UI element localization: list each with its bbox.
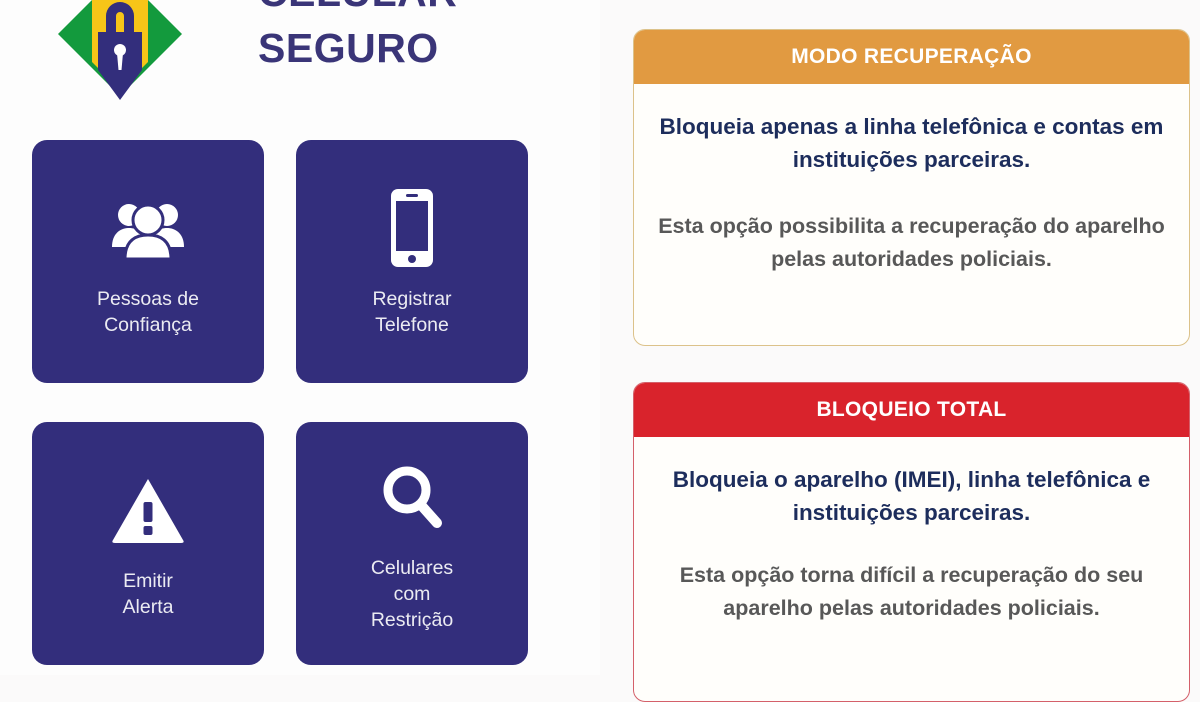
tile-pessoas-de-confianca[interactable]: Pessoas de Confiança bbox=[32, 140, 264, 383]
card-body: Bloqueia o aparelho (IMEI), linha telefô… bbox=[634, 437, 1189, 625]
tile-label: Celulares com Restrição bbox=[371, 555, 453, 633]
card-secondary-text: Esta opção possibilita a recuperação do … bbox=[656, 210, 1167, 276]
app-preview-panel: CELULAR SEGURO Pessoas de Confiança bbox=[0, 0, 600, 675]
brand-title-line2: SEGURO bbox=[258, 20, 558, 76]
card-header-title: BLOQUEIO TOTAL bbox=[634, 383, 1189, 437]
people-group-icon bbox=[109, 186, 187, 270]
magnifier-search-icon bbox=[379, 455, 445, 539]
tile-label: Registrar Telefone bbox=[372, 286, 451, 338]
tile-label: Pessoas de Confiança bbox=[97, 286, 199, 338]
tile-registrar-telefone[interactable]: Registrar Telefone bbox=[296, 140, 528, 383]
card-secondary-text: Esta opção torna difícil a recuperação d… bbox=[656, 559, 1167, 625]
card-header-title: MODO RECUPERAÇÃO bbox=[634, 30, 1189, 84]
page-title: CELULAR SEGURO bbox=[258, 0, 558, 76]
warning-triangle-icon bbox=[111, 468, 185, 552]
app-header: CELULAR SEGURO bbox=[0, 0, 600, 120]
card-primary-text: Bloqueia o aparelho (IMEI), linha telefô… bbox=[656, 463, 1167, 529]
tile-celulares-com-restricao[interactable]: Celulares com Restrição bbox=[296, 422, 528, 665]
brazil-diamond-padlock-logo-icon bbox=[40, 0, 200, 114]
card-bloqueio-total: BLOQUEIO TOTAL Bloqueia o aparelho (IMEI… bbox=[633, 382, 1190, 702]
card-modo-recuperacao: MODO RECUPERAÇÃO Bloqueia apenas a linha… bbox=[633, 29, 1190, 346]
brand-title-line1: CELULAR bbox=[258, 0, 558, 20]
tile-label: Emitir Alerta bbox=[123, 568, 174, 620]
mobile-phone-icon bbox=[386, 186, 438, 270]
tile-emitir-alerta[interactable]: Emitir Alerta bbox=[32, 422, 264, 665]
card-primary-text: Bloqueia apenas a linha telefônica e con… bbox=[656, 110, 1167, 176]
card-body: Bloqueia apenas a linha telefônica e con… bbox=[634, 84, 1189, 276]
info-cards-panel: MODO RECUPERAÇÃO Bloqueia apenas a linha… bbox=[600, 0, 1200, 675]
menu-tile-grid: Pessoas de Confiança Registrar Telefone bbox=[32, 140, 528, 665]
